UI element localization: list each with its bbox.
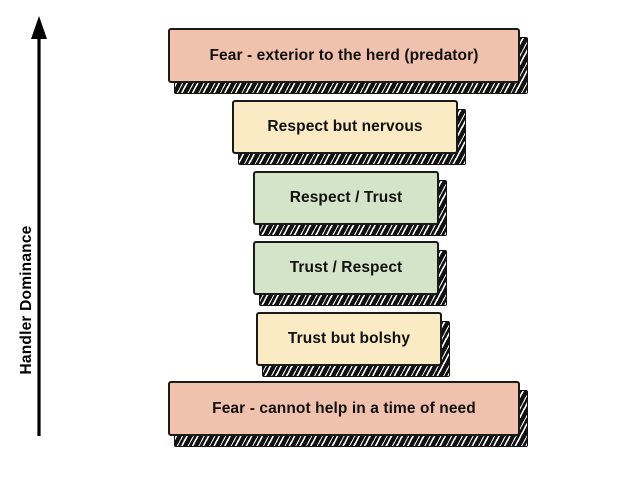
band-label: Fear - cannot help in a time of need (212, 400, 476, 417)
band-label: Fear - exterior to the herd (predator) (209, 47, 478, 64)
band-6[interactable]: Fear - cannot help in a time of need (168, 381, 520, 436)
band-4[interactable]: Trust / Respect (253, 241, 439, 295)
band-2[interactable]: Respect but nervous (232, 100, 458, 154)
band-5[interactable]: Trust but bolshy (256, 312, 442, 366)
diagram-canvas: Handler Dominance Fear - exterior to the… (0, 0, 630, 494)
band-label: Trust but bolshy (288, 330, 410, 347)
band-label: Respect / Trust (290, 189, 403, 206)
y-axis-label: Handler Dominance (14, 150, 40, 450)
band-label: Respect but nervous (267, 118, 422, 135)
band-label: Trust / Respect (290, 259, 403, 276)
band-3[interactable]: Respect / Trust (253, 171, 439, 225)
band-1[interactable]: Fear - exterior to the herd (predator) (168, 28, 520, 83)
